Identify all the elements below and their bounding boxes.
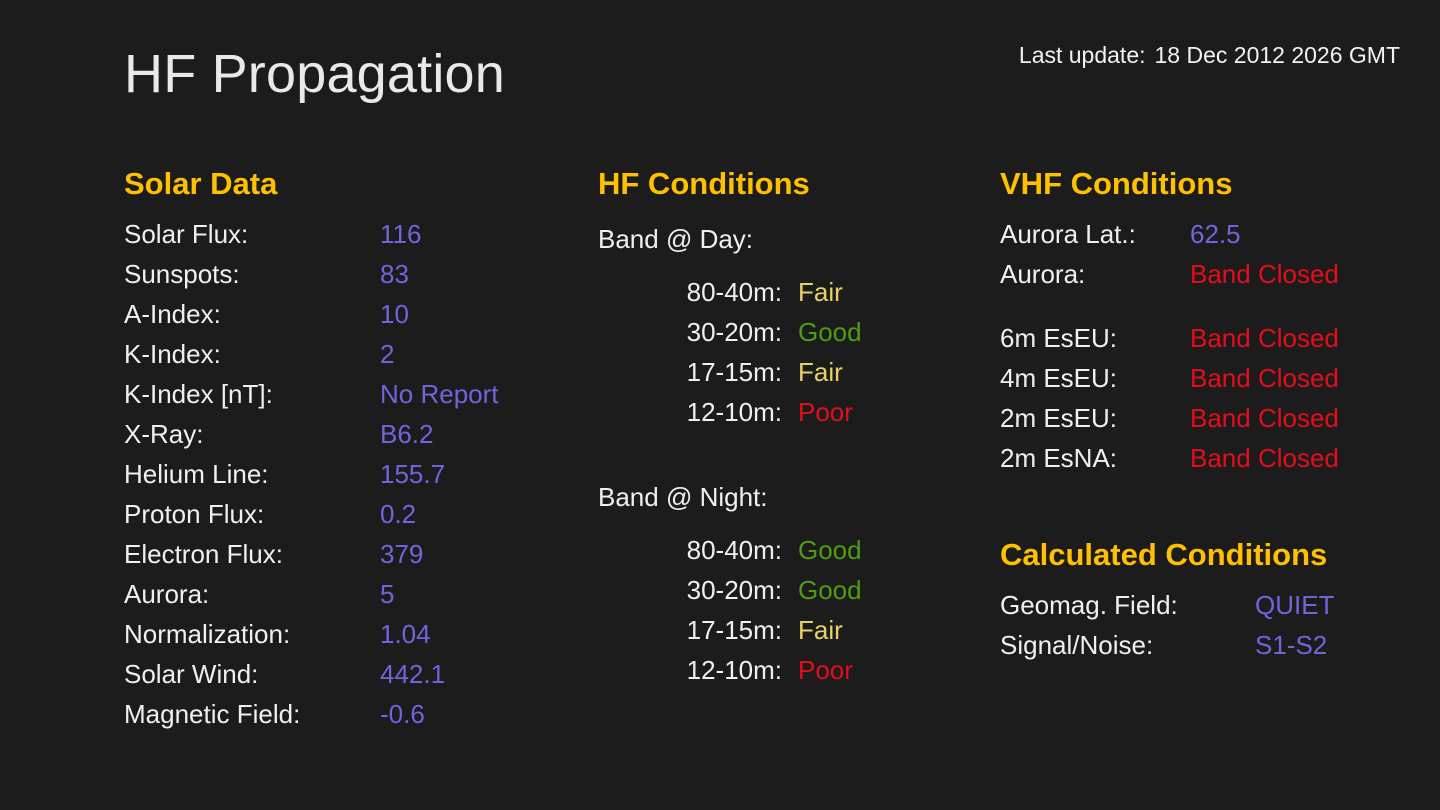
calculated-conditions-heading: Calculated Conditions [1000, 539, 1420, 570]
hf-night-condition: Good [798, 575, 862, 606]
solar-data-label: Solar Flux: [124, 219, 380, 250]
last-update: Last update:18 Dec 2012 2026 GMT [1019, 42, 1400, 69]
solar-data-value: 155.7 [380, 459, 445, 490]
solar-data-label: Magnetic Field: [124, 699, 380, 730]
solar-data-value: 2 [380, 339, 394, 370]
hf-day-rows: 80-40m:Fair30-20m:Good17-15m:Fair12-10m:… [598, 277, 978, 437]
solar-data-row: Helium Line:155.7 [124, 459, 584, 499]
vhf-es-row: 6m EsEU:Band Closed [1000, 323, 1420, 363]
solar-data-value: No Report [380, 379, 499, 410]
calculated-conditions-value: S1-S2 [1255, 630, 1327, 661]
solar-data-label: Solar Wind: [124, 659, 380, 690]
hf-day-title: Band @ Day: [598, 219, 978, 259]
solar-data-label: Electron Flux: [124, 539, 380, 570]
solar-data-label: K-Index: [124, 339, 380, 370]
solar-data-label: Aurora: [124, 579, 380, 610]
vhf-es-value: Band Closed [1190, 403, 1339, 434]
last-update-value: 18 Dec 2012 2026 GMT [1155, 42, 1400, 68]
hf-day-row: 17-15m:Fair [598, 357, 978, 397]
hf-night-row: 80-40m:Good [598, 535, 978, 575]
solar-data-row: Electron Flux:379 [124, 539, 584, 579]
solar-data-label: K-Index [nT]: [124, 379, 380, 410]
vhf-es-row: 2m EsNA:Band Closed [1000, 443, 1420, 483]
hf-day-block: Band @ Day: 80-40m:Fair30-20m:Good17-15m… [598, 219, 978, 437]
hf-conditions-heading: HF Conditions [598, 168, 978, 199]
solar-data-value: B6.2 [380, 419, 434, 450]
vhf-es-row: 2m EsEU:Band Closed [1000, 403, 1420, 443]
vhf-aurora-label: Aurora Lat.: [1000, 219, 1190, 250]
solar-data-row: Proton Flux:0.2 [124, 499, 584, 539]
vhf-aurora-row: Aurora:Band Closed [1000, 259, 1420, 299]
solar-data-row: A-Index:10 [124, 299, 584, 339]
hf-night-row: 17-15m:Fair [598, 615, 978, 655]
solar-data-value: 442.1 [380, 659, 445, 690]
hf-night-condition: Fair [798, 615, 843, 646]
hf-night-rows: 80-40m:Good30-20m:Good17-15m:Fair12-10m:… [598, 535, 978, 695]
solar-data-value: 379 [380, 539, 423, 570]
hf-night-band-label: 30-20m: [598, 575, 798, 606]
solar-data-label: Sunspots: [124, 259, 380, 290]
calculated-conditions-value: QUIET [1255, 590, 1334, 621]
hf-night-band-label: 80-40m: [598, 535, 798, 566]
vhf-es-row: 4m EsEU:Band Closed [1000, 363, 1420, 403]
solar-data-value: 116 [380, 219, 421, 250]
calculated-conditions-label: Signal/Noise: [1000, 630, 1255, 661]
hf-night-band-label: 12-10m: [598, 655, 798, 686]
hf-night-row: 12-10m:Poor [598, 655, 978, 695]
hf-day-condition: Poor [798, 397, 853, 428]
vhf-aurora-list: Aurora Lat.:62.5Aurora:Band Closed [1000, 219, 1420, 299]
solar-data-list: Solar Flux:116Sunspots:83A-Index:10K-Ind… [124, 219, 584, 739]
vhf-es-label: 6m EsEU: [1000, 323, 1190, 354]
hf-night-block: Band @ Night: 80-40m:Good30-20m:Good17-1… [598, 477, 978, 695]
hf-day-condition: Good [798, 317, 862, 348]
solar-data-value: 10 [380, 299, 409, 330]
solar-data-label: Proton Flux: [124, 499, 380, 530]
solar-data-label: Normalization: [124, 619, 380, 650]
vhf-es-value: Band Closed [1190, 323, 1339, 354]
solar-data-label: X-Ray: [124, 419, 380, 450]
vhf-aurora-label: Aurora: [1000, 259, 1190, 290]
vhf-aurora-row: Aurora Lat.:62.5 [1000, 219, 1420, 259]
hf-day-band-label: 12-10m: [598, 397, 798, 428]
solar-data-row: K-Index [nT]:No Report [124, 379, 584, 419]
vhf-aurora-value: 62.5 [1190, 219, 1241, 250]
solar-data-column: Solar Data Solar Flux:116Sunspots:83A-In… [124, 168, 584, 739]
vhf-es-label: 2m EsNA: [1000, 443, 1190, 474]
solar-data-value: -0.6 [380, 699, 425, 730]
vhf-conditions-column: VHF Conditions Aurora Lat.:62.5Aurora:Ba… [1000, 168, 1420, 670]
solar-data-row: K-Index:2 [124, 339, 584, 379]
solar-data-row: Aurora:5 [124, 579, 584, 619]
hf-day-condition: Fair [798, 357, 843, 388]
solar-data-value: 0.2 [380, 499, 416, 530]
vhf-spacer [1000, 299, 1420, 323]
solar-data-value: 1.04 [380, 619, 431, 650]
hf-night-condition: Poor [798, 655, 853, 686]
solar-data-value: 83 [380, 259, 409, 290]
hf-night-band-label: 17-15m: [598, 615, 798, 646]
last-update-label: Last update: [1019, 42, 1146, 68]
vhf-es-list: 6m EsEU:Band Closed4m EsEU:Band Closed2m… [1000, 323, 1420, 483]
vhf-es-value: Band Closed [1190, 443, 1339, 474]
solar-data-value: 5 [380, 579, 394, 610]
vhf-es-label: 2m EsEU: [1000, 403, 1190, 434]
solar-data-row: Normalization:1.04 [124, 619, 584, 659]
hf-day-band-label: 80-40m: [598, 277, 798, 308]
solar-data-row: X-Ray:B6.2 [124, 419, 584, 459]
page-title: HF Propagation [124, 47, 505, 101]
hf-night-row: 30-20m:Good [598, 575, 978, 615]
solar-data-row: Solar Flux:116 [124, 219, 584, 259]
hf-day-row: 80-40m:Fair [598, 277, 978, 317]
solar-data-heading: Solar Data [124, 168, 584, 199]
solar-data-row: Magnetic Field:-0.6 [124, 699, 584, 739]
vhf-aurora-value: Band Closed [1190, 259, 1339, 290]
solar-data-label: Helium Line: [124, 459, 380, 490]
hf-day-row: 30-20m:Good [598, 317, 978, 357]
solar-data-row: Sunspots:83 [124, 259, 584, 299]
hf-conditions-column: HF Conditions Band @ Day: 80-40m:Fair30-… [598, 168, 978, 695]
calculated-conditions-row: Signal/Noise:S1-S2 [1000, 630, 1420, 670]
hf-day-band-label: 17-15m: [598, 357, 798, 388]
calculated-conditions-row: Geomag. Field:QUIET [1000, 590, 1420, 630]
calculated-conditions-label: Geomag. Field: [1000, 590, 1255, 621]
hf-night-condition: Good [798, 535, 862, 566]
vhf-conditions-heading: VHF Conditions [1000, 168, 1420, 199]
calculated-conditions-block: Calculated Conditions Geomag. Field:QUIE… [1000, 539, 1420, 670]
solar-data-row: Solar Wind:442.1 [124, 659, 584, 699]
hf-night-title: Band @ Night: [598, 477, 978, 517]
hf-day-row: 12-10m:Poor [598, 397, 978, 437]
hf-day-band-label: 30-20m: [598, 317, 798, 348]
hf-day-condition: Fair [798, 277, 843, 308]
solar-data-label: A-Index: [124, 299, 380, 330]
vhf-es-label: 4m EsEU: [1000, 363, 1190, 394]
calculated-conditions-list: Geomag. Field:QUIETSignal/Noise:S1-S2 [1000, 590, 1420, 670]
vhf-es-value: Band Closed [1190, 363, 1339, 394]
